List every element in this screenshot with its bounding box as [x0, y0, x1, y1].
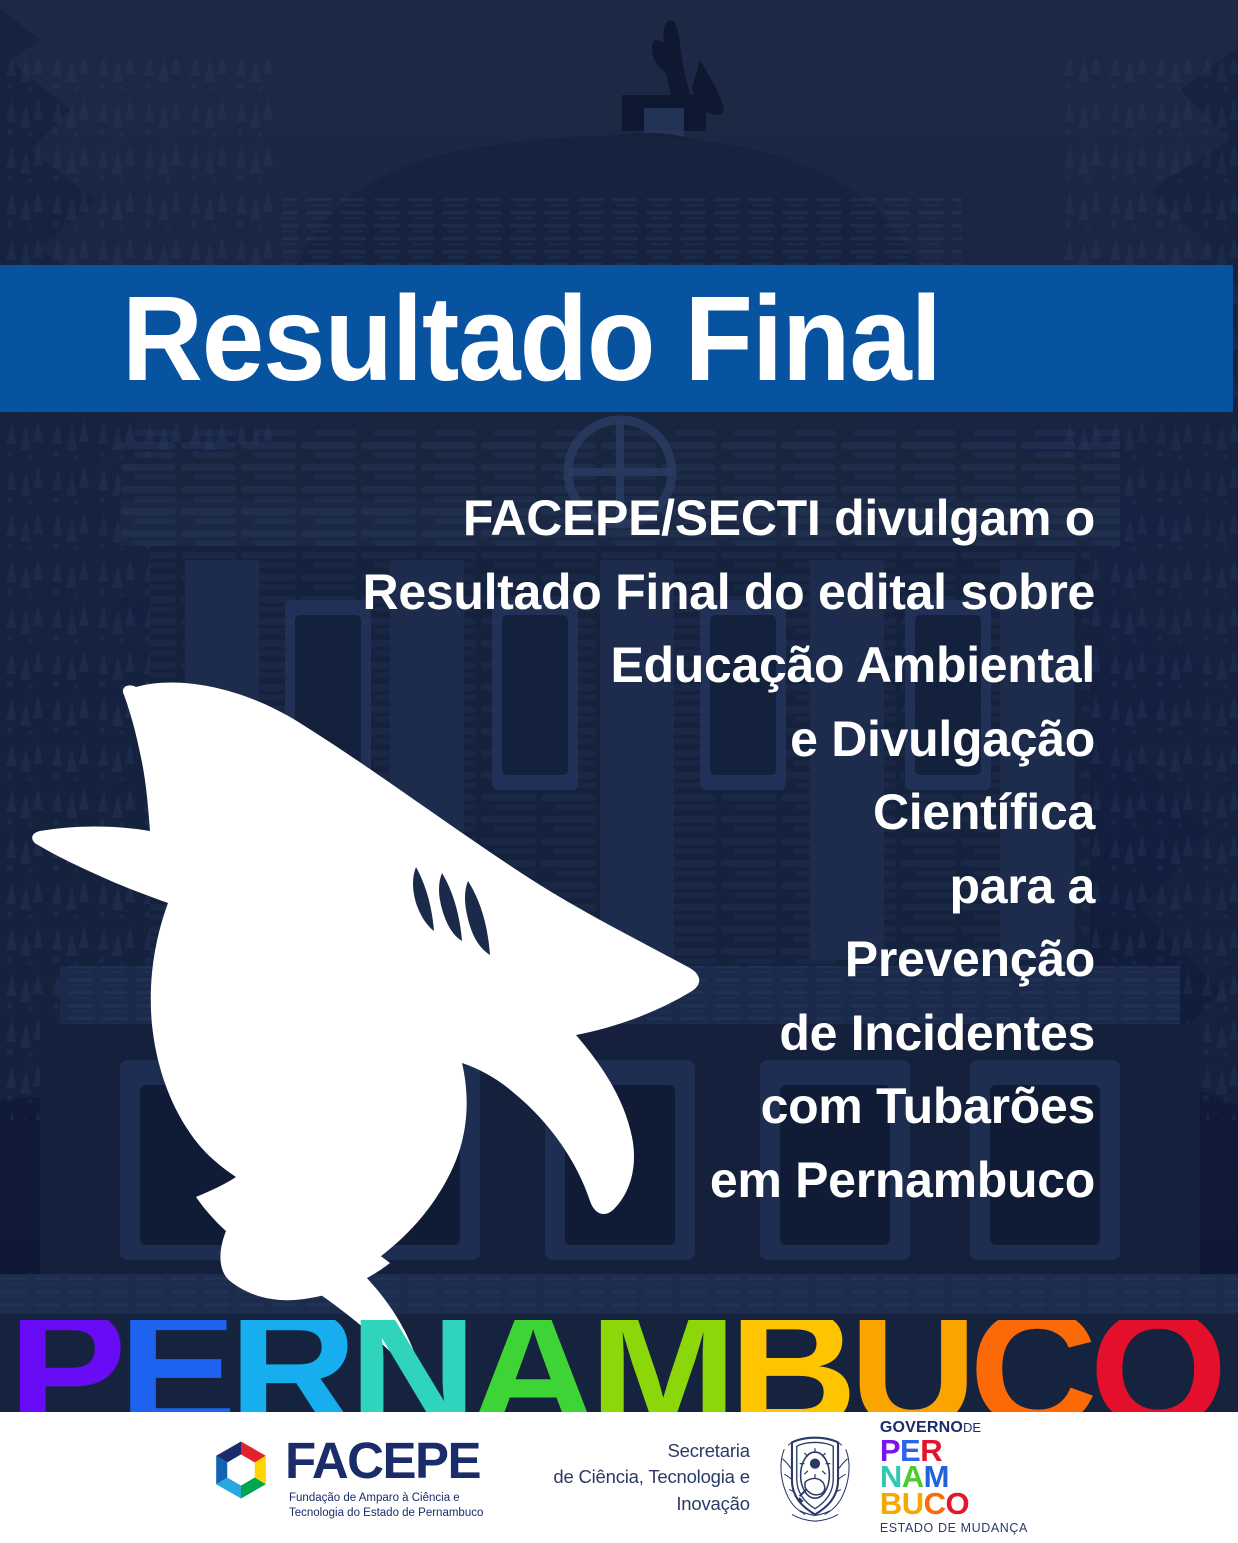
poster-root: Resultado Final FACEPE/SECTI divulgam o …: [0, 0, 1238, 1543]
facepe-tagline: Fundação de Amparo à Ciência e Tecnologi…: [289, 1491, 483, 1519]
facepe-tagline-line-1: Fundação de Amparo à Ciência e: [289, 1491, 483, 1505]
governo-letter-c-2-2: C: [924, 1491, 946, 1517]
wordmark-letter-c-8: C: [969, 1320, 1089, 1412]
headline-line-7: Prevenção: [295, 923, 1095, 997]
facepe-logo[interactable]: FACEPE Fundação de Amparo à Ciência e Te…: [210, 1435, 483, 1519]
governo-letter-o-2-3: O: [945, 1491, 969, 1517]
secretaria-line-1: Secretaria: [553, 1438, 749, 1464]
headline-line-1: FACEPE/SECTI divulgam o: [295, 482, 1095, 556]
facepe-tagline-line-2: Tecnologia do Estado de Pernambuco: [289, 1506, 483, 1520]
result-banner: Resultado Final: [0, 265, 1233, 412]
governo-slogan: ESTADO DE MUDANÇA: [880, 1521, 1028, 1535]
facepe-wordmark: FACEPE: [285, 1435, 483, 1486]
wordmark-letter-u-7: U: [849, 1320, 969, 1412]
headline-line-6: para a: [295, 850, 1095, 924]
headline-line-2: Resultado Final do edital sobre: [295, 556, 1095, 630]
wordmark-letter-a-4: A: [469, 1320, 589, 1412]
banner-title: Resultado Final: [0, 278, 941, 399]
governo-pernambuco-logo[interactable]: GOVERNODE PERNAMBUCO ESTADO DE MUDANÇA: [880, 1420, 1028, 1534]
wordmark-letter-n-3: N: [349, 1320, 469, 1412]
governo-wordmark: PERNAMBUCO: [880, 1438, 969, 1516]
headline-line-5: Científica: [295, 776, 1095, 850]
secretaria-line-2: de Ciência, Tecnologia e: [553, 1464, 749, 1490]
pernambuco-wordmark: PERNAMBUCO: [0, 1320, 1238, 1412]
wordmark-letter-r-2: R: [229, 1320, 349, 1412]
headline-line-3: Educação Ambiental: [295, 629, 1095, 703]
governo-row-3: BUCO: [880, 1491, 969, 1517]
wordmark-letter-b-6: B: [729, 1320, 849, 1412]
headline-text: FACEPE/SECTI divulgam o Resultado Final …: [295, 482, 1095, 1217]
headline-line-4: e Divulgação: [295, 703, 1095, 777]
governo-letter-u-2-1: U: [902, 1491, 924, 1517]
secretaria-logo[interactable]: Secretaria de Ciência, Tecnologia e Inov…: [553, 1438, 749, 1517]
wordmark-letter-p-0: P: [8, 1320, 118, 1412]
pernambuco-coat-of-arms-icon: [776, 1430, 854, 1526]
governo-letter-b-2-0: B: [880, 1491, 902, 1517]
wordmark-letter-m-5: M: [589, 1320, 729, 1412]
governo-prefix-light: DE: [963, 1420, 981, 1435]
wordmark-letter-o-9: O: [1089, 1320, 1219, 1412]
facepe-hexagon-icon: [210, 1439, 272, 1501]
headline-line-9: com Tubarões: [295, 1070, 1095, 1144]
headline-line-10: em Pernambuco: [295, 1144, 1095, 1218]
footer-logo-bar: FACEPE Fundação de Amparo à Ciência e Te…: [0, 1412, 1238, 1543]
secretaria-line-3: Inovação: [553, 1491, 749, 1517]
wordmark-letter-e-1: E: [118, 1320, 228, 1412]
headline-line-8: de Incidentes: [295, 997, 1095, 1071]
